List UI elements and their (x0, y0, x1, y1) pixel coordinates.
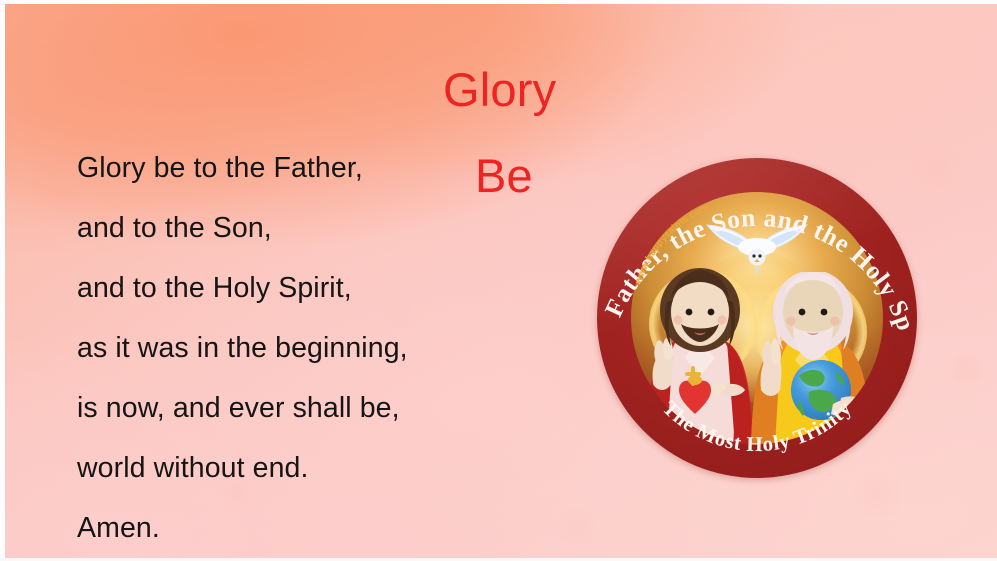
holy-trinity-badge: The Father, the Son and the Holy Spirit … (597, 158, 917, 478)
prayer-text: Glory be to the Father, and to the Son, … (77, 138, 497, 558)
prayer-line-7: Amen. (77, 498, 497, 558)
prayer-line-6: world without end. (77, 438, 497, 498)
badge-inner-field (631, 192, 883, 444)
slide-title-line-1: Glory (443, 47, 743, 133)
prayer-line-5: is now, and ever shall be, (77, 378, 497, 438)
prayer-line-4: as it was in the beginning, (77, 318, 497, 378)
slide-edge-left (0, 0, 5, 561)
slide-canvas: Glory Be Glory be to the Father, and to … (0, 0, 997, 561)
prayer-line-1: Glory be to the Father, (77, 138, 497, 198)
prayer-line-3: and to the Holy Spirit, (77, 258, 497, 318)
figure-god-the-father (743, 272, 883, 444)
prayer-line-2: and to the Son, (77, 198, 497, 258)
slide-edge-top (0, 0, 997, 4)
